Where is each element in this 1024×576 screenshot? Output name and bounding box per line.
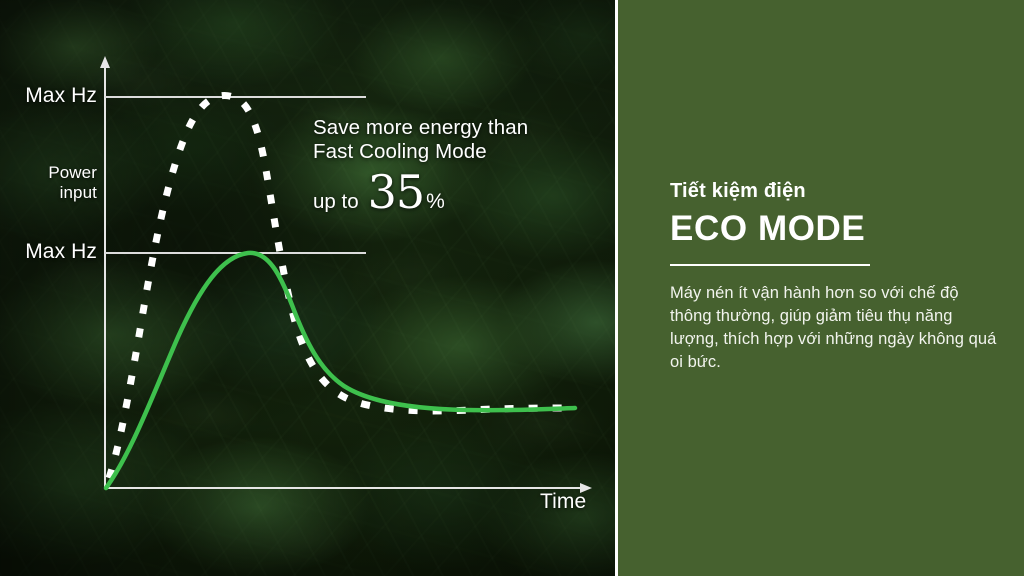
callout-up-to-text: up to xyxy=(313,190,359,214)
callout-percent-unit: % xyxy=(426,190,445,214)
text-panel: Tiết kiệm điện ECO MODE Máy nén ít vận h… xyxy=(618,0,1024,576)
panel-rule xyxy=(670,264,870,266)
photo-chart-panel: Max Hz Max Hz Power input Time Save more… xyxy=(0,0,615,576)
axis-title-power-input: Power input xyxy=(0,163,97,203)
axis-label-time: Time xyxy=(540,490,586,514)
series-eco-mode xyxy=(106,253,575,488)
axis-label-max-hz-bottom: Max Hz xyxy=(0,240,97,264)
slide-root: Max Hz Max Hz Power input Time Save more… xyxy=(0,0,1024,576)
panel-headline: ECO MODE xyxy=(670,209,865,249)
axis-label-max-hz-top: Max Hz xyxy=(0,84,97,108)
y-axis-arrowhead xyxy=(100,56,110,68)
callout-line-1: Save more energy than xyxy=(313,116,583,140)
chart-callout: Save more energy than Fast Cooling Mode … xyxy=(313,116,583,214)
panel-body-text: Máy nén ít vận hành hơn so với chế độ th… xyxy=(670,282,1000,374)
callout-percent-value: 35 xyxy=(368,170,425,214)
panel-kicker: Tiết kiệm điện xyxy=(670,180,806,203)
callout-percent-line: up to 35 % xyxy=(313,170,583,214)
callout-line-2: Fast Cooling Mode xyxy=(313,140,583,164)
axis-title-power-input-line2: input xyxy=(0,183,97,203)
axis-title-power-input-line1: Power xyxy=(0,163,97,183)
